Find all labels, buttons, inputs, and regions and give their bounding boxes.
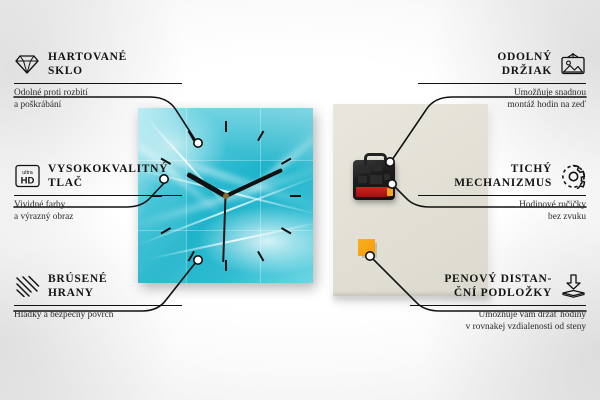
callout-desc-line-1: Vividné farby: [14, 200, 65, 210]
callout-foam-spacers: PENOVÝ DISTAN- ČNÍ PODLOŽKY Umožňuje vám…: [410, 272, 586, 333]
callout-hardened-glass: HARTOVANÉ SKLO Odolné proti rozbití a po…: [14, 50, 182, 111]
callout-title-line-1: HARTOVANÉ: [48, 51, 127, 63]
callout-title-line-1: VYSOKOKVALITNÝ: [48, 163, 168, 175]
callout-title-line-2: HRANY: [48, 287, 94, 299]
callout-desc-line-2: bez zvuku: [548, 212, 586, 222]
ultra-hd-icon: ultra HD: [14, 163, 40, 189]
callout-divider: [418, 195, 586, 196]
callout-desc-line-2: montáž hodin na zeď: [507, 100, 586, 110]
callout-divider: [14, 195, 182, 196]
stacked-pads-arrow-icon: [560, 273, 586, 299]
callout-ground-edges: BRÚSENÉ HRANY Hladký a bezpečný povrch: [14, 272, 182, 322]
callout-title-line-1: PENOVÝ DISTAN-: [444, 273, 552, 285]
callout-title-line-1: TICHÝ: [511, 163, 552, 175]
connector-dot-durable-hanger: [386, 158, 394, 166]
callout-title-line-2: ČNÍ PODLOŽKY: [454, 287, 552, 299]
callout-title-line-1: BRÚSENÉ: [48, 273, 107, 285]
callout-divider: [418, 83, 586, 84]
callout-silent-mechanism: TICHÝ MECHANIZMUS Hodinové ručičky bez z…: [418, 162, 586, 223]
callout-desc-line-1: Umožňuje snadnou: [514, 88, 586, 98]
product-infographic: HARTOVANÉ SKLO Odolné proti rozbití a po…: [0, 0, 600, 400]
connector-dot-silent-mechanism: [388, 180, 396, 188]
connector-dot-ground-edges: [194, 256, 202, 264]
gear-icon: [560, 163, 586, 189]
callout-title-line-2: MECHANIZMUS: [454, 177, 552, 189]
callout-desc-line-1: Umožňuje vám držať hodiny: [479, 310, 587, 320]
callout-divider: [410, 305, 586, 306]
callout-divider: [14, 83, 182, 84]
connector-dot-foam-spacers: [366, 252, 374, 260]
callout-desc-line-2: a výrazný obraz: [14, 212, 73, 222]
connector-dot-hardened-glass: [194, 139, 202, 147]
callout-title-line-2: SKLO: [48, 65, 83, 77]
callout-durable-hanger: ODOLNÝ DRŽIAK Umožňuje snadnou montáž ho…: [418, 50, 586, 111]
callout-divider: [14, 305, 182, 306]
diamond-icon: [14, 51, 40, 77]
callout-desc-line-1: Hladký a bezpečný povrch: [14, 310, 113, 320]
callout-desc-line-2: a poškrábání: [14, 100, 61, 110]
svg-text:HD: HD: [20, 176, 34, 187]
sanded-edges-icon: [14, 273, 40, 299]
callout-high-quality-print: ultra HD VYSOKOKVALITNÝ TLAČ Vividné far…: [14, 162, 182, 223]
callout-title-line-2: TLAČ: [48, 177, 83, 189]
callout-desc-line-2: v rovnakej vzdialenosti od steny: [466, 322, 586, 332]
callout-title-line-2: DRŽIAK: [502, 65, 552, 77]
callout-title-line-1: ODOLNÝ: [497, 51, 552, 63]
callout-desc-line-1: Odolné proti rozbití: [14, 88, 88, 98]
callout-desc-line-1: Hodinové ručičky: [519, 200, 586, 210]
picture-frame-hanger-icon: [560, 51, 586, 77]
